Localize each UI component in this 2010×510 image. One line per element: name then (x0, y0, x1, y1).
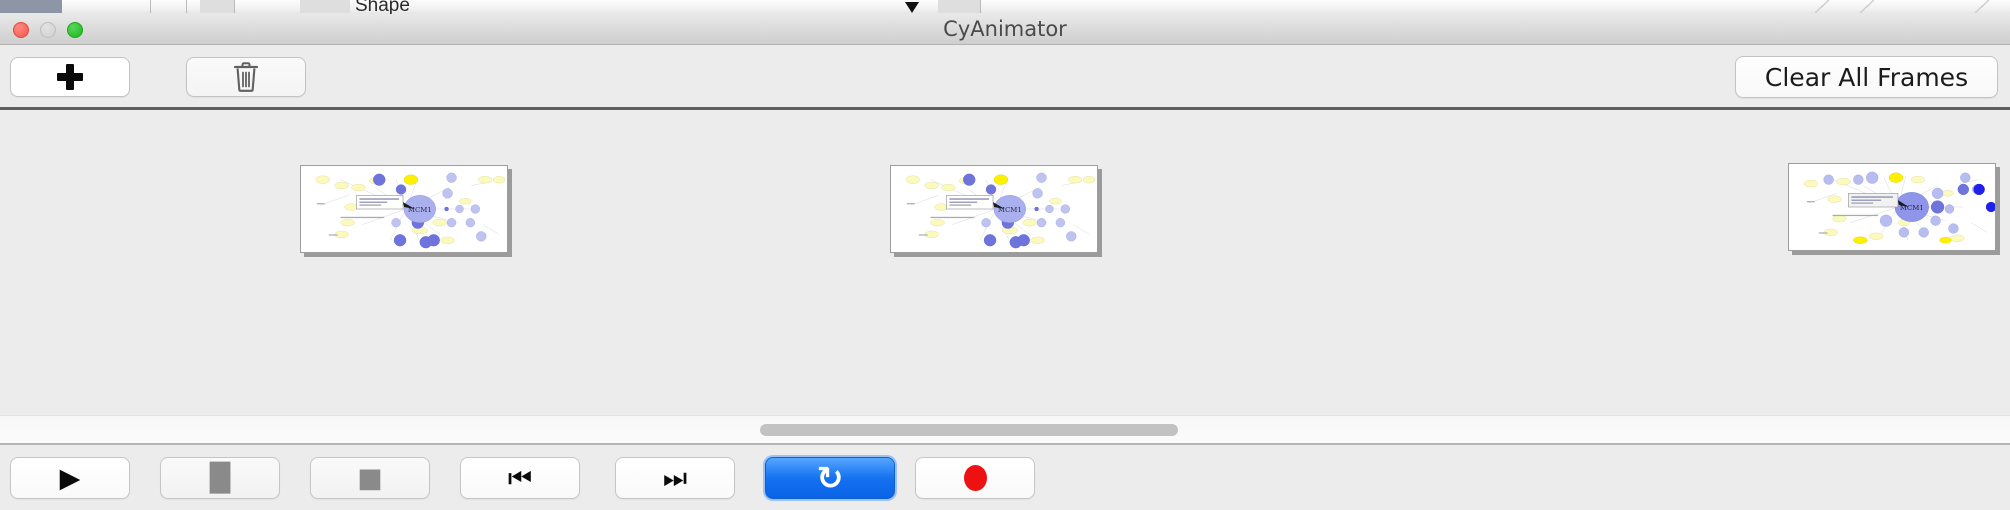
add-frame-button[interactable] (10, 57, 130, 97)
stop-icon: ■ (357, 465, 383, 492)
clear-all-frames-label: Clear All Frames (1765, 63, 1968, 92)
clear-all-frames-button[interactable]: Clear All Frames (1735, 56, 1998, 98)
loop-button[interactable]: ↻ (765, 457, 895, 499)
pause-icon: ▐▌ (199, 465, 241, 492)
background-cell (938, 0, 980, 13)
window-title: CyAnimator (0, 14, 2010, 45)
network-graph-preview: MCM1 (1789, 164, 1995, 250)
background-slash-icon (1975, 0, 1989, 13)
pause-button: ▐▌ (160, 457, 280, 499)
frame-thumbnail-1[interactable]: MCM1 (300, 165, 508, 253)
background-divider (186, 0, 187, 13)
frame-thumbnail-3[interactable]: MCM1 (1788, 163, 1996, 251)
background-divider (234, 0, 235, 13)
network-graph-preview: MCM1 (301, 166, 507, 252)
skip-forward-icon: ⏭ (663, 465, 687, 492)
network-graph-preview: MCM1 (891, 166, 1097, 252)
background-divider (150, 0, 151, 13)
timeline-scrollbar-thumb[interactable] (760, 424, 1178, 436)
plus-icon (57, 64, 83, 90)
skip-back-icon: ⏮ (508, 465, 532, 492)
background-cell (200, 0, 234, 13)
frame-toolbar: Clear All Frames (0, 45, 2010, 109)
background-slash-icon (1860, 0, 1874, 13)
skip-to-start-button[interactable]: ⏮ (460, 457, 580, 499)
background-window-strip: Shape (0, 0, 2010, 14)
background-window-label: Shape (355, 0, 410, 14)
skip-to-end-button[interactable]: ⏭ (615, 457, 735, 499)
frame-thumbnail-2[interactable]: MCM1 (890, 165, 1098, 253)
record-button[interactable] (915, 457, 1035, 499)
cyanimator-window: Shape CyAnimator Clear All (0, 0, 2010, 510)
stop-button: ■ (310, 457, 430, 499)
playback-controls: ▶▐▌■⏮⏭↻ Animation Speed: (0, 445, 2010, 510)
play-button[interactable]: ▶ (10, 457, 130, 499)
background-divider (980, 0, 981, 13)
background-slash-icon (1815, 0, 1829, 13)
delete-frame-button[interactable] (186, 57, 306, 97)
title-bar: CyAnimator (0, 14, 2010, 45)
record-icon (964, 465, 987, 491)
timeline-panel[interactable]: MCM1 (0, 110, 2010, 415)
play-icon: ▶ (60, 465, 81, 492)
trash-icon (233, 62, 259, 92)
background-cell (300, 0, 350, 13)
background-caret-icon (905, 2, 919, 13)
background-window-titlebar-fragment (0, 0, 62, 13)
loop-icon: ↻ (817, 462, 844, 494)
